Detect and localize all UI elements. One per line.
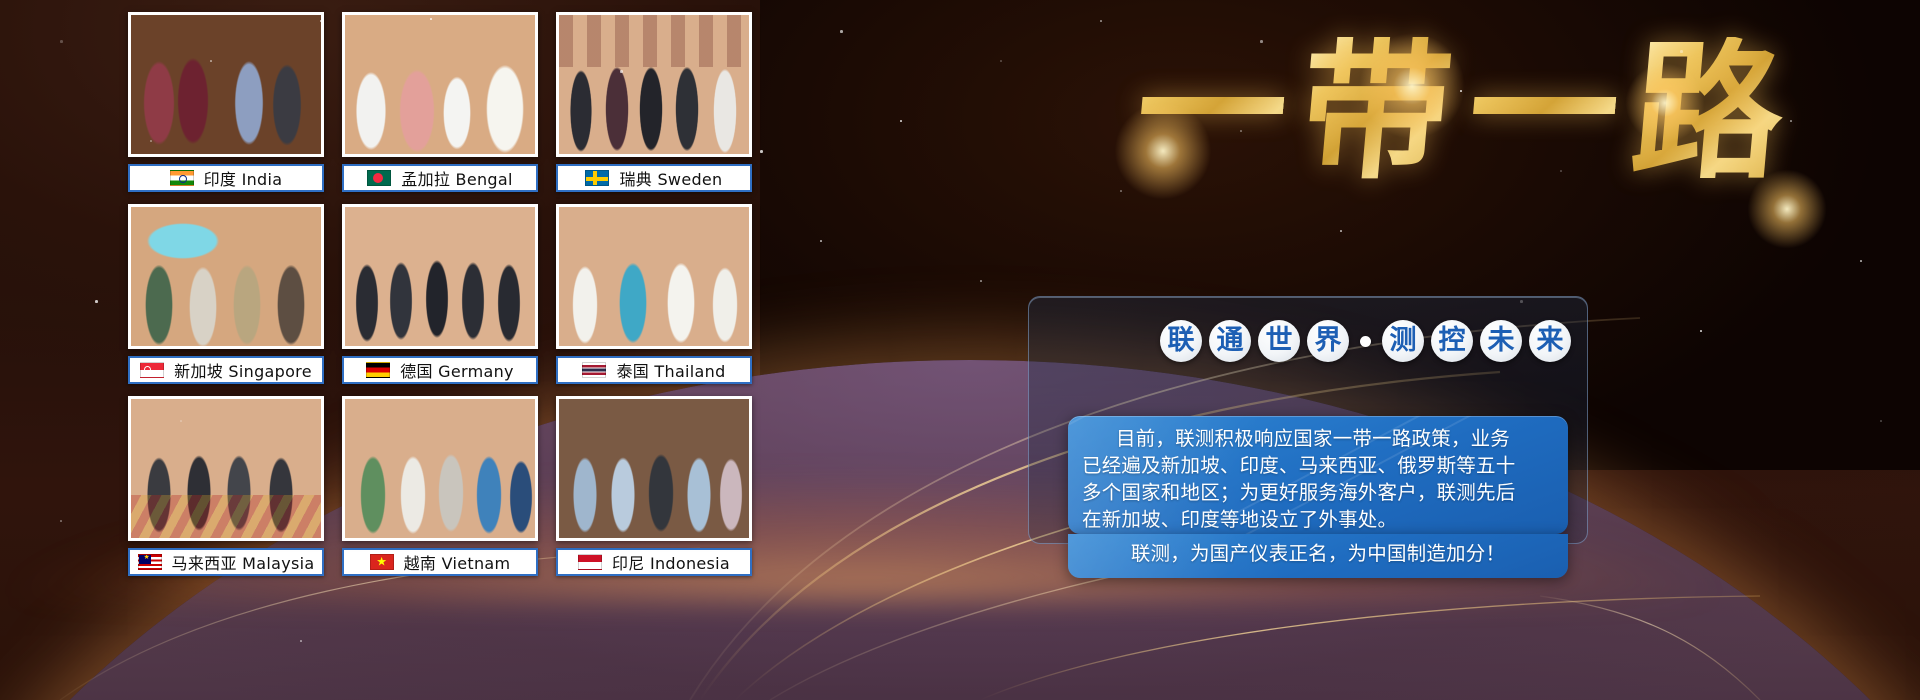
star-sparkle xyxy=(95,300,98,303)
grid-cell[interactable]: 瑞典 Sweden xyxy=(556,12,752,192)
caption-label: 新加坡 Singapore xyxy=(174,358,312,382)
slogan-separator-dot xyxy=(1360,336,1371,347)
photo-thumbnail[interactable] xyxy=(556,12,752,157)
photo-caption: 印尼 Indonesia xyxy=(556,548,752,576)
star-sparkle xyxy=(1100,20,1102,22)
slogan-char: 世 xyxy=(1258,320,1300,362)
photo-thumbnail[interactable] xyxy=(342,204,538,349)
singapore-flag xyxy=(140,362,164,378)
vietnam-flag xyxy=(370,554,394,570)
star-sparkle xyxy=(1120,190,1122,192)
star-sparkle xyxy=(760,150,763,153)
caption-label: 孟加拉 Bengal xyxy=(401,166,512,190)
star-sparkle xyxy=(840,30,843,33)
slogan-char: 测 xyxy=(1382,320,1424,362)
caption-label: 印度 India xyxy=(204,166,283,190)
star-sparkle xyxy=(180,420,182,422)
caption-label: 泰国 Thailand xyxy=(616,358,725,382)
star-sparkle xyxy=(1240,130,1242,132)
grid-cell[interactable]: 马来西亚 Malaysia xyxy=(128,396,324,576)
indonesia-flag xyxy=(578,554,602,570)
partner-photo-grid: 印度 India 孟加拉 Bengal 瑞典 Sweden xyxy=(128,12,752,576)
slogan-char: 通 xyxy=(1209,320,1251,362)
company-slogan: 联 通 世 界 测 控 未 来 xyxy=(1160,320,1571,362)
caption-label: 越南 Vietnam xyxy=(404,550,511,574)
star-sparkle xyxy=(1790,120,1792,122)
india-flag xyxy=(170,170,194,186)
description-card: 目前，联测积极响应国家一带一路政策，业务 已经遍及新加坡、印度、马来西亚、俄罗斯… xyxy=(1068,416,1568,534)
photo-thumbnail[interactable] xyxy=(342,12,538,157)
slogan-char: 界 xyxy=(1307,320,1349,362)
sweden-flag xyxy=(585,170,609,186)
photo-thumbnail[interactable] xyxy=(128,396,324,541)
thailand-flag xyxy=(582,362,606,378)
description-line: 在新加坡、印度等地设立了外事处。 xyxy=(1082,506,1554,533)
star-sparkle xyxy=(1000,60,1002,62)
star-sparkle xyxy=(300,640,302,642)
photo-thumbnail[interactable] xyxy=(128,12,324,157)
description-line: 多个国家和地区；为更好服务海外客户，联测先后 xyxy=(1082,479,1554,506)
star-sparkle xyxy=(620,70,623,73)
star-sparkle xyxy=(980,280,982,282)
photo-caption: 马来西亚 Malaysia xyxy=(128,548,324,576)
grid-cell[interactable]: 德国 Germany xyxy=(342,204,538,384)
star-sparkle xyxy=(1340,230,1342,232)
slogan-char: 联 xyxy=(1160,320,1202,362)
star-sparkle xyxy=(1400,330,1402,332)
grid-cell[interactable]: 孟加拉 Bengal xyxy=(342,12,538,192)
star-sparkle xyxy=(1880,420,1882,422)
description-card-tagline: 联测，为国产仪表正名，为中国制造加分！ xyxy=(1068,534,1568,578)
caption-label: 马来西亚 Malaysia xyxy=(172,550,315,574)
star-sparkle xyxy=(900,120,902,122)
photo-caption: 泰国 Thailand xyxy=(556,356,752,384)
star-sparkle xyxy=(1560,170,1562,172)
star-sparkle xyxy=(150,140,152,142)
description-line: 联测，为国产仪表正名，为中国制造加分！ xyxy=(1082,540,1554,567)
star-sparkle xyxy=(1460,90,1462,92)
belt-and-road-banner: 印度 India 孟加拉 Bengal 瑞典 Sweden xyxy=(0,0,1920,700)
grid-cell[interactable]: 印度 India xyxy=(128,12,324,192)
photo-thumbnail[interactable] xyxy=(556,204,752,349)
photo-thumbnail[interactable] xyxy=(556,396,752,541)
grid-cell[interactable]: 越南 Vietnam xyxy=(342,396,538,576)
germany-flag xyxy=(366,362,390,378)
star-sparkle xyxy=(60,40,63,43)
photo-caption: 越南 Vietnam xyxy=(342,548,538,576)
bengal-flag xyxy=(367,170,391,186)
photo-caption: 瑞典 Sweden xyxy=(556,164,752,192)
photo-caption: 德国 Germany xyxy=(342,356,538,384)
photo-thumbnail[interactable] xyxy=(128,204,324,349)
star-sparkle xyxy=(60,520,62,522)
slogan-char: 来 xyxy=(1529,320,1571,362)
star-sparkle xyxy=(1520,300,1523,303)
star-sparkle xyxy=(1700,330,1702,332)
description-line: 目前，联测积极响应国家一带一路政策，业务 xyxy=(1082,425,1554,452)
star-sparkle xyxy=(1680,50,1683,53)
star-sparkle xyxy=(1860,260,1862,262)
description-line: 已经遍及新加坡、印度、马来西亚、俄罗斯等五十 xyxy=(1082,452,1554,479)
star-sparkle xyxy=(210,60,212,62)
malaysia-flag xyxy=(138,554,162,570)
grid-cell[interactable]: 泰国 Thailand xyxy=(556,204,752,384)
photo-thumbnail[interactable] xyxy=(342,396,538,541)
slogan-char: 控 xyxy=(1431,320,1473,362)
caption-label: 德国 Germany xyxy=(400,358,514,382)
grid-cell[interactable]: 印尼 Indonesia xyxy=(556,396,752,576)
photo-caption: 孟加拉 Bengal xyxy=(342,164,538,192)
caption-label: 印尼 Indonesia xyxy=(612,550,730,574)
slogan-char: 未 xyxy=(1480,320,1522,362)
star-sparkle xyxy=(430,18,432,20)
star-sparkle xyxy=(320,20,322,22)
star-sparkle xyxy=(1260,40,1263,43)
caption-label: 瑞典 Sweden xyxy=(619,166,722,190)
photo-caption: 新加坡 Singapore xyxy=(128,356,324,384)
grid-cell[interactable]: 新加坡 Singapore xyxy=(128,204,324,384)
photo-caption: 印度 India xyxy=(128,164,324,192)
star-sparkle xyxy=(820,240,822,242)
